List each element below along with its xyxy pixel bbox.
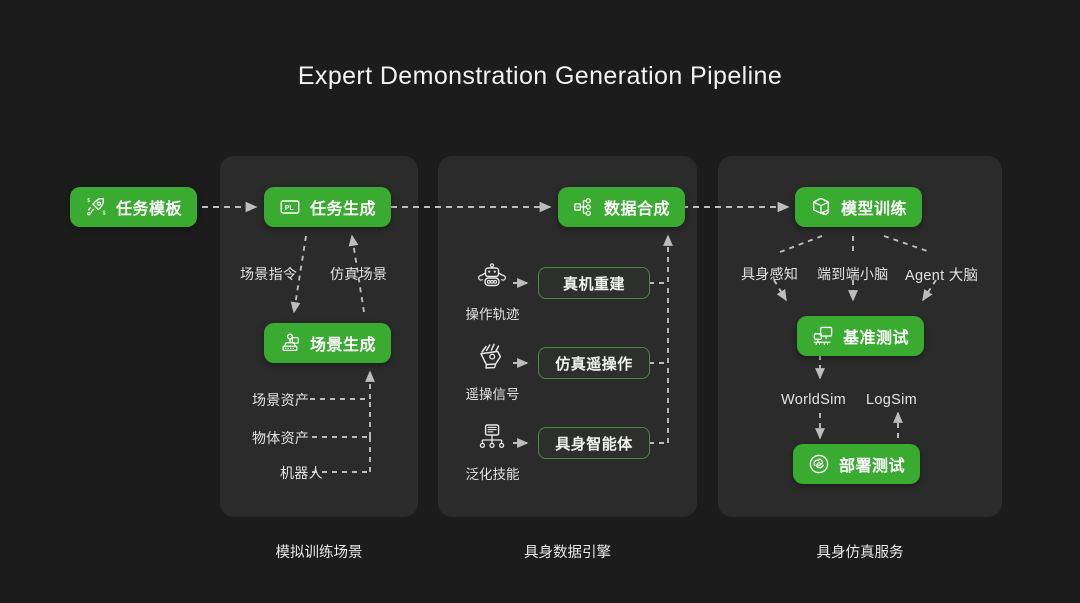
pill-model-training[interactable]: 模型训练	[795, 187, 922, 227]
caption-panel-2: 具身数据引擎	[438, 541, 697, 562]
pill-label: 模型训练	[841, 195, 907, 219]
label-worldsim: WorldSim	[781, 392, 846, 408]
caption-panel-3: 具身仿真服务	[718, 541, 1002, 562]
pill-label: 任务生成	[310, 195, 376, 219]
label-robot: 机器人	[280, 463, 323, 483]
glove-icon	[473, 342, 511, 376]
scene-robot-icon	[279, 332, 301, 354]
data-synthesis-icon	[573, 196, 595, 218]
pill-label: 部署测试	[839, 452, 905, 476]
svg-text:$: $	[87, 198, 90, 204]
label-generalization-skill: 泛化技能	[455, 463, 530, 483]
label-embodied-perception: 具身感知	[741, 264, 798, 284]
box-label: 具身智能体	[555, 433, 633, 454]
pill-task-generation[interactable]: PL 任务生成	[264, 187, 391, 227]
label-scene-instruction: 场景指令	[240, 264, 297, 284]
label-agent-brain: Agent 大脑	[905, 264, 978, 285]
label-operation-trajectory: 操作轨迹	[455, 303, 530, 323]
svg-text:$: $	[103, 211, 106, 217]
deploy-circle-icon	[808, 453, 830, 475]
label-teleop-signal: 遥操信号	[455, 383, 530, 403]
pill-task-template[interactable]: $ $ 任务模板	[70, 187, 197, 227]
pill-deployment-test[interactable]: 部署测试	[793, 444, 920, 484]
pill-label: 场景生成	[310, 331, 376, 355]
label-logsim: LogSim	[866, 392, 917, 408]
diagram-canvas: Expert Demonstration Generation Pipeline	[0, 0, 1080, 603]
page-title: Expert Demonstration Generation Pipeline	[0, 62, 1080, 91]
pill-label: 任务模板	[116, 195, 182, 219]
prompt-box-icon: PL	[279, 196, 301, 218]
box-label: 真机重建	[563, 273, 625, 294]
cube-train-icon	[810, 196, 832, 218]
svg-text:PL: PL	[285, 205, 295, 212]
box-real-machine-reconstruction[interactable]: 真机重建	[538, 267, 650, 299]
label-scene-asset: 场景资产	[252, 390, 309, 410]
box-embodied-agent[interactable]: 具身智能体	[538, 427, 650, 459]
label-sim-scene: 仿真场景	[330, 264, 387, 284]
agent-net-icon	[473, 422, 511, 456]
label-object-asset: 物体资产	[252, 428, 309, 448]
label-end-to-end-cerebellum: 端到端小脑	[817, 264, 889, 284]
pill-benchmark-test[interactable]: 基准测试	[797, 316, 924, 356]
box-label: 仿真遥操作	[555, 353, 633, 374]
caption-panel-1: 模拟训练场景	[220, 541, 418, 562]
box-simulated-teleoperation[interactable]: 仿真遥操作	[538, 347, 650, 379]
pill-scene-generation[interactable]: 场景生成	[264, 323, 391, 363]
pill-data-synthesis[interactable]: 数据合成	[558, 187, 685, 227]
benchmark-screen-icon	[812, 325, 834, 347]
pill-label: 数据合成	[604, 195, 670, 219]
rocket-icon: $ $	[85, 196, 107, 218]
pill-label: 基准测试	[843, 324, 909, 348]
robot-icon	[473, 262, 511, 296]
